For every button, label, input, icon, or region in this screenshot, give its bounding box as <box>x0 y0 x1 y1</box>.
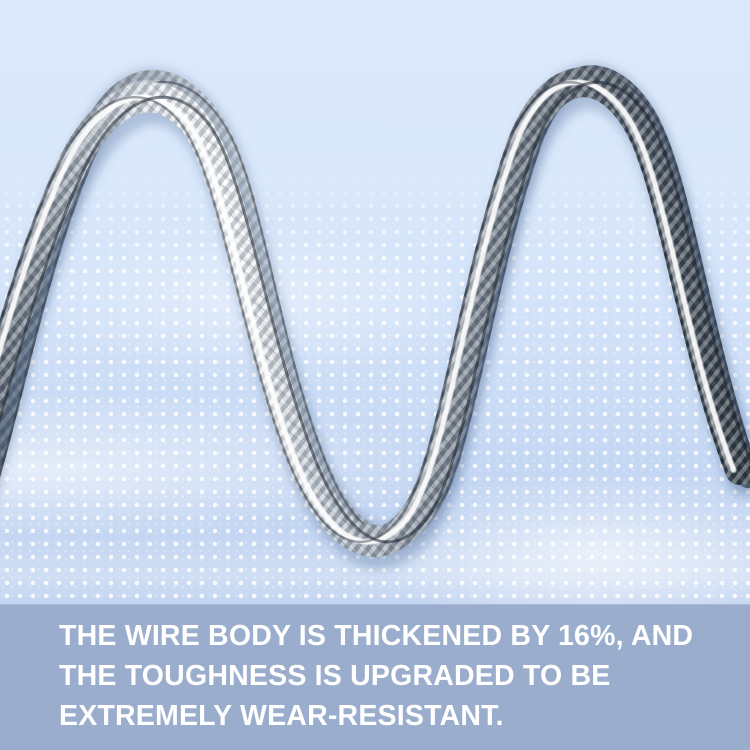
caption-line-1: THE WIRE BODY IS THICKENED BY 16%, AND <box>59 616 730 656</box>
product-promo-image: THE WIRE BODY IS THICKENED BY 16%, AND T… <box>0 0 750 750</box>
caption-line-2: THE TOUGHNESS IS UPGRADED TO BE <box>59 656 730 696</box>
caption-text-block: THE WIRE BODY IS THICKENED BY 16%, AND T… <box>59 616 730 736</box>
caption-line-3: EXTREMELY WEAR-RESISTANT. <box>59 696 730 736</box>
caption-banner: THE WIRE BODY IS THICKENED BY 16%, AND T… <box>0 604 750 750</box>
